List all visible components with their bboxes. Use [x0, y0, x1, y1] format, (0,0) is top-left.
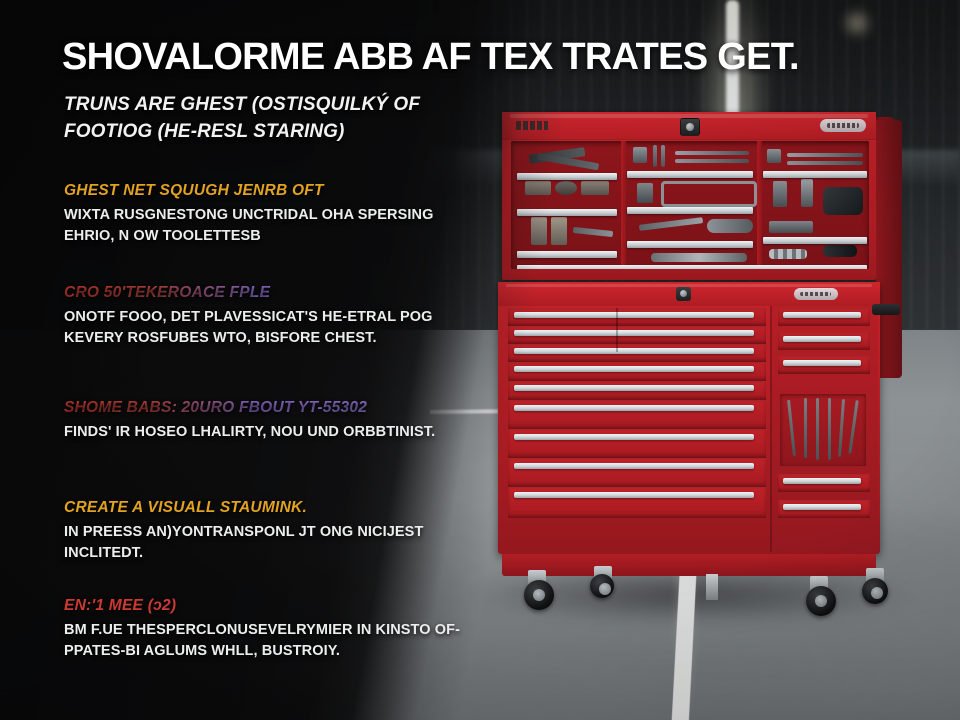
- section-1-body: WIXTA RUSGNESTONG UNCTRIDAL OHA SPERSING…: [64, 205, 464, 246]
- section-4-heading: CREATE A VISUALL STAUMINK.: [64, 499, 464, 517]
- section-3: SHOME BABS: 20URO FBOUT YT-55302 FINDS' …: [64, 399, 464, 443]
- section-5-heading: EN:'1 MEE (ɔ2): [64, 597, 464, 615]
- infographic-poster: SHOVALORME ABB AF TEX TRATES GET. TRUNS …: [0, 0, 960, 720]
- section-5: EN:'1 MEE (ɔ2) BM F.UE THESPERCLONUSEVEL…: [64, 597, 464, 661]
- section-3-heading: SHOME BABS: 20URO FBOUT YT-55302: [64, 399, 464, 417]
- section-1: GHEST NET SQUUGH JENRB OFT WIXTA RUSGNES…: [64, 182, 464, 246]
- section-1-heading: GHEST NET SQUUGH JENRB OFT: [64, 182, 464, 200]
- text-content: SHOVALORME ABB AF TEX TRATES GET. TRUNS …: [58, 0, 458, 720]
- section-3-body: FINDS' IR HOSEO LHALIRTY, NOU UND ORBBTI…: [64, 422, 464, 443]
- section-4: CREATE A VISUALL STAUMINK. IN PREESS AN)…: [64, 499, 464, 563]
- section-2-heading: CRO 50'TEKEROACE FPLE: [64, 284, 464, 302]
- section-5-body: BM F.UE THESPERCLONUSEVELRYMIER IN KINST…: [64, 620, 464, 661]
- poster-subtitle: TRUNS ARE GHEST (OSTISQUILKÝ OF FOOTIOG …: [64, 92, 484, 146]
- poster-title: SHOVALORME ABB AF TEX TRATES GET.: [62, 38, 922, 78]
- section-2: CRO 50'TEKEROACE FPLE ONOTF FOOO, DET PL…: [64, 284, 464, 348]
- section-4-body: IN PREESS AN)YONTRANSPONL JT ONG NICIJES…: [64, 522, 464, 563]
- section-2-body: ONOTF FOOO, DET PLAVESSICAT'S HE-ETRAL P…: [64, 307, 464, 348]
